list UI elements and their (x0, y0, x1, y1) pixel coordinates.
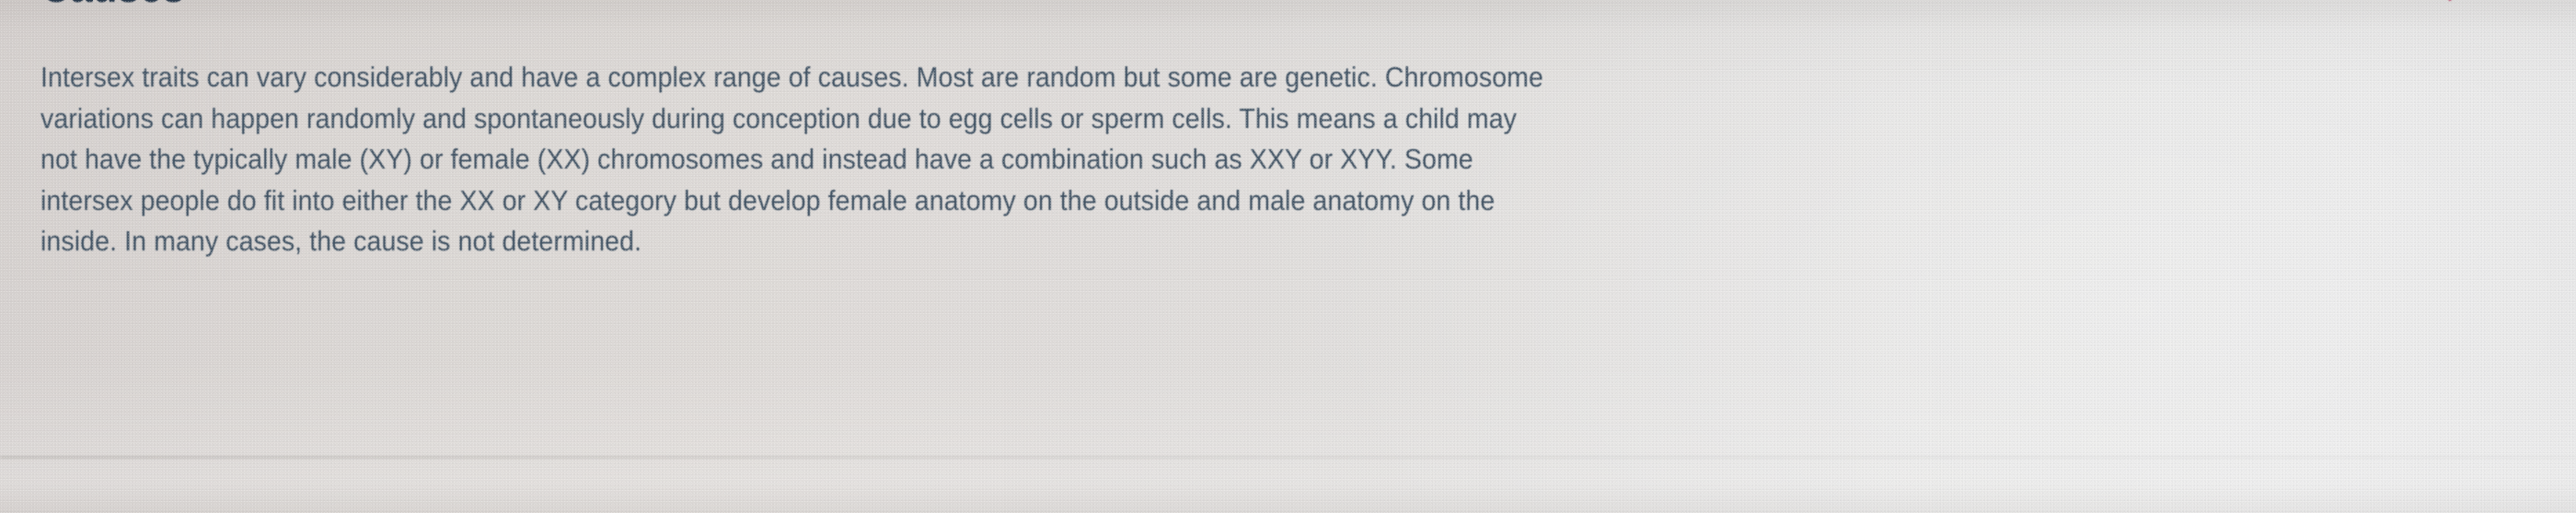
chevron-down-icon[interactable] (2423, 0, 2477, 5)
body-line: Intersex traits can vary considerably an… (40, 57, 2175, 99)
body-line: variations can happen randomly and spont… (40, 99, 2175, 140)
screenshot-root: Causes Intersex traits can vary consider… (0, 0, 2576, 513)
causes-accordion-panel: Causes Intersex traits can vary consider… (0, 0, 2576, 513)
page-title: Causes (40, 0, 185, 14)
panel-bottom-divider (0, 456, 2576, 459)
causes-section-header[interactable]: Causes (40, 0, 2536, 15)
body-line: inside. In many cases, the cause is not … (40, 221, 2175, 262)
body-line: intersex people do fit into either the X… (40, 181, 2175, 222)
body-line: not have the typically male (XY) or fema… (40, 139, 2175, 181)
causes-body-text: Intersex traits can vary considerably an… (40, 57, 2323, 262)
